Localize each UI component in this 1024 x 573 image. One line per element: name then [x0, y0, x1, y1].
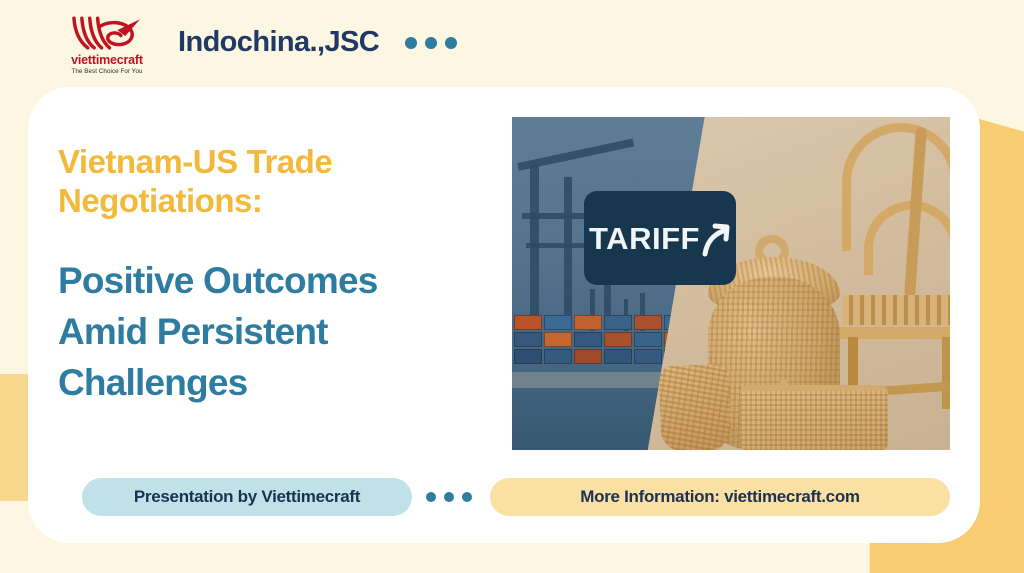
logo-wordmark: viettimecraft: [71, 54, 143, 67]
dot-1: [405, 37, 417, 49]
rattan-chair-seat: [842, 295, 950, 325]
subhead-group: Positive Outcomes Amid Persistent Challe…: [58, 255, 508, 408]
headline-part-a: Vietnam-US: [58, 143, 238, 180]
crane-column: [530, 165, 539, 315]
slide-header: viettimecraft The Best Choice For You In…: [0, 0, 1024, 88]
dot-3: [445, 37, 457, 49]
headline-line-2: Negotiations:: [58, 181, 498, 220]
headline-line-1: Vietnam-USTrade: [58, 142, 498, 181]
hero-photo: TARIFF: [512, 117, 950, 450]
slide-canvas: viettimecraft The Best Choice For You In…: [0, 0, 1024, 573]
footer-dots-ornament: [426, 492, 472, 502]
more-information-pill[interactable]: More Information: viettimecraft.com: [490, 478, 950, 516]
logo-tagline: The Best Choice For You: [71, 68, 142, 75]
tariff-label: TARIFF: [589, 223, 700, 254]
subhead-line-1: Positive Outcomes: [58, 255, 508, 306]
dot-2: [425, 37, 437, 49]
header-dots-ornament: [405, 37, 457, 49]
subhead-line-3: Challenges: [58, 357, 508, 408]
woven-storage-box: [740, 385, 888, 450]
tariff-badge: TARIFF: [584, 191, 736, 285]
dot-1: [426, 492, 436, 502]
dot-2: [444, 492, 454, 502]
slide-footer: Presentation by Viettimecraft More Infor…: [0, 477, 1024, 517]
seagrass-basket-small: [659, 364, 732, 450]
viettimecraft-logo-mark: [70, 15, 144, 55]
dot-3: [462, 492, 472, 502]
headline-group: Vietnam-USTrade Negotiations:: [58, 142, 498, 220]
arrow-up-right-curved-icon: [701, 220, 731, 258]
viettimecraft-logo[interactable]: viettimecraft The Best Choice For You: [66, 15, 148, 75]
rattan-chair-leg: [942, 337, 950, 409]
presentation-credit-pill[interactable]: Presentation by Viettimecraft: [82, 478, 412, 516]
subhead-line-2: Amid Persistent: [58, 306, 508, 357]
company-name: Indochina.,JSC: [178, 26, 379, 59]
headline-part-b: Trade: [247, 143, 333, 180]
